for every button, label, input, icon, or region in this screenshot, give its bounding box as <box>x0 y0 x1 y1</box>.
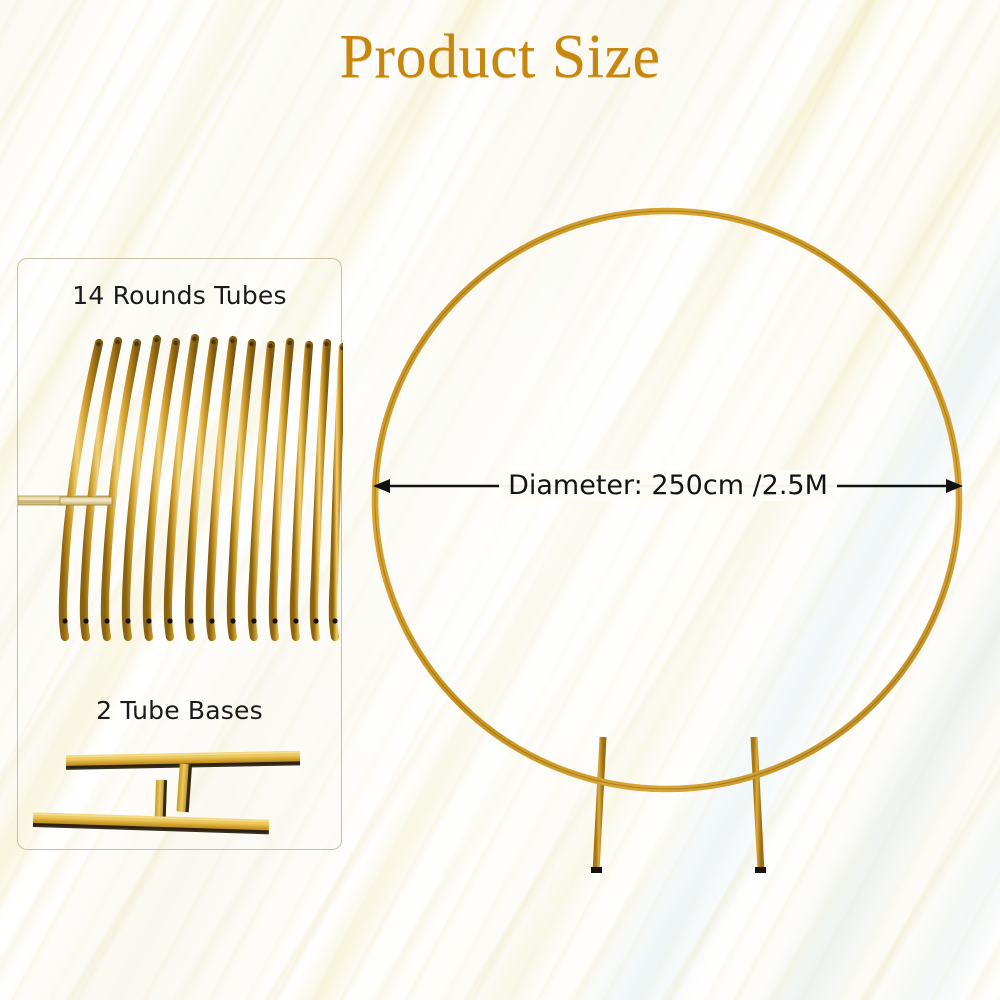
stand-leg-right <box>754 737 761 872</box>
stand-leg-left <box>596 737 603 872</box>
parts-panel: 14 Rounds Tubes <box>17 258 342 850</box>
product-size-infographic: Product Size 14 Rounds Tubes <box>0 0 1000 1000</box>
tube-item <box>252 345 271 637</box>
diameter-label-text: Diameter: 250cm /2.5M <box>499 470 837 501</box>
page-title: Product Size <box>0 22 1000 92</box>
tubes-label: 14 Rounds Tubes <box>18 281 341 311</box>
diameter-dimension: Diameter: 250cm /2.5M <box>373 463 963 509</box>
tube-item <box>294 345 309 637</box>
round-tubes-illustration <box>18 321 343 681</box>
stand-legs <box>591 737 766 873</box>
bases-label: 2 Tube Bases <box>18 696 341 726</box>
leg-foot-left <box>591 867 602 873</box>
round-arch-product <box>350 180 990 880</box>
tube-item <box>273 342 290 637</box>
tube-bases-illustration <box>18 737 343 849</box>
tube-item <box>314 343 327 637</box>
diameter-label: Diameter: 250cm /2.5M <box>373 466 963 506</box>
leg-foot-right <box>755 867 766 873</box>
base-bar-lower <box>33 812 269 834</box>
tube-item <box>333 347 343 637</box>
base-post-upper <box>176 764 192 813</box>
tube-crossbar-stub <box>60 497 112 505</box>
tube-group <box>62 337 343 637</box>
